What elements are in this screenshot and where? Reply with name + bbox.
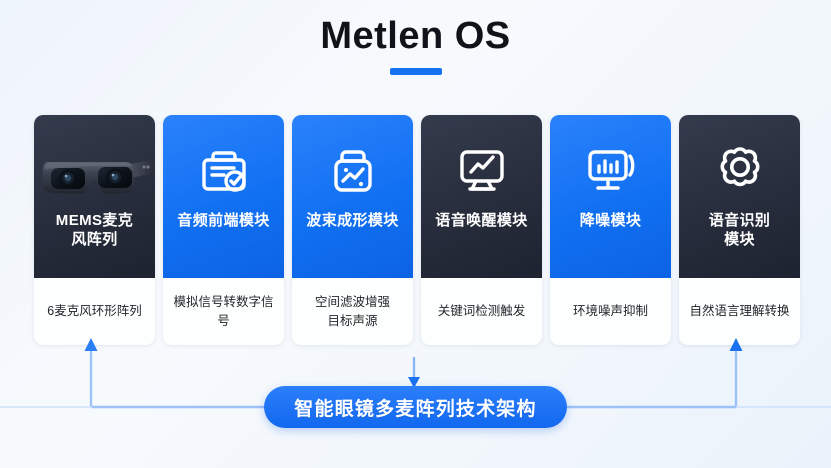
page-title: Metlen OS bbox=[0, 16, 831, 58]
gear-icon bbox=[711, 133, 769, 209]
card-title: 波束成形模块 bbox=[300, 211, 404, 230]
module-card-beamforming[interactable]: 波束成形模块 空间滤波增强 目标声源 bbox=[292, 115, 413, 345]
card-header: 音频前端模块 bbox=[163, 115, 284, 278]
module-card-speech-recognition[interactable]: 语音识别 模块 自然语言理解转换 bbox=[679, 115, 800, 345]
monitor-bar-chart-icon bbox=[582, 133, 640, 209]
card-body: 空间滤波增强 目标声源 bbox=[292, 278, 413, 345]
card-title: 音频前端模块 bbox=[171, 211, 275, 230]
card-header: MEMS麦克 风阵列 bbox=[34, 115, 155, 278]
card-title: 降噪模块 bbox=[574, 211, 648, 230]
card-header: 语音唤醒模块 bbox=[421, 115, 542, 278]
module-card-row: MEMS麦克 风阵列 6麦克风环形阵列 音频 bbox=[34, 115, 800, 345]
card-title: 语音识别 模块 bbox=[703, 211, 777, 249]
pill-label: 智能眼镜多麦阵列技术架构 bbox=[294, 394, 536, 421]
title-underline bbox=[390, 68, 442, 75]
card-description: 模拟信号转数字信号 bbox=[170, 293, 277, 329]
card-body: 关键词检测触发 bbox=[421, 278, 542, 345]
module-card-noise-reduction[interactable]: 降噪模块 环境噪声抑制 bbox=[550, 115, 671, 345]
card-title: MEMS麦克 风阵列 bbox=[50, 211, 139, 249]
briefcase-check-icon bbox=[196, 133, 252, 209]
card-description: 6麦克风环形阵列 bbox=[47, 302, 141, 320]
architecture-summary-pill[interactable]: 智能眼镜多麦阵列技术架构 bbox=[264, 386, 567, 428]
vr-glasses-photo-icon bbox=[36, 133, 154, 209]
card-header: 波束成形模块 bbox=[292, 115, 413, 278]
card-body: 自然语言理解转换 bbox=[679, 278, 800, 345]
card-body: 环境噪声抑制 bbox=[550, 278, 671, 345]
card-description: 自然语言理解转换 bbox=[689, 302, 789, 320]
briefcase-chart-icon bbox=[325, 133, 381, 209]
card-header: 降噪模块 bbox=[550, 115, 671, 278]
card-title: 语音唤醒模块 bbox=[429, 211, 533, 230]
card-body: 模拟信号转数字信号 bbox=[163, 278, 284, 345]
card-header: 语音识别 模块 bbox=[679, 115, 800, 278]
module-card-mems-mic-array[interactable]: MEMS麦克 风阵列 6麦克风环形阵列 bbox=[34, 115, 155, 345]
slide-root: Metlen OS bbox=[0, 0, 831, 468]
card-description: 环境噪声抑制 bbox=[573, 302, 648, 320]
card-description: 空间滤波增强 目标声源 bbox=[315, 293, 390, 329]
card-body: 6麦克风环形阵列 bbox=[34, 278, 155, 345]
card-description: 关键词检测触发 bbox=[438, 302, 526, 320]
module-card-voice-wakeup[interactable]: 语音唤醒模块 关键词检测触发 bbox=[421, 115, 542, 345]
monitor-line-chart-icon bbox=[453, 133, 511, 209]
module-card-audio-frontend[interactable]: 音频前端模块 模拟信号转数字信号 bbox=[163, 115, 284, 345]
page-title-block: Metlen OS bbox=[0, 16, 831, 75]
